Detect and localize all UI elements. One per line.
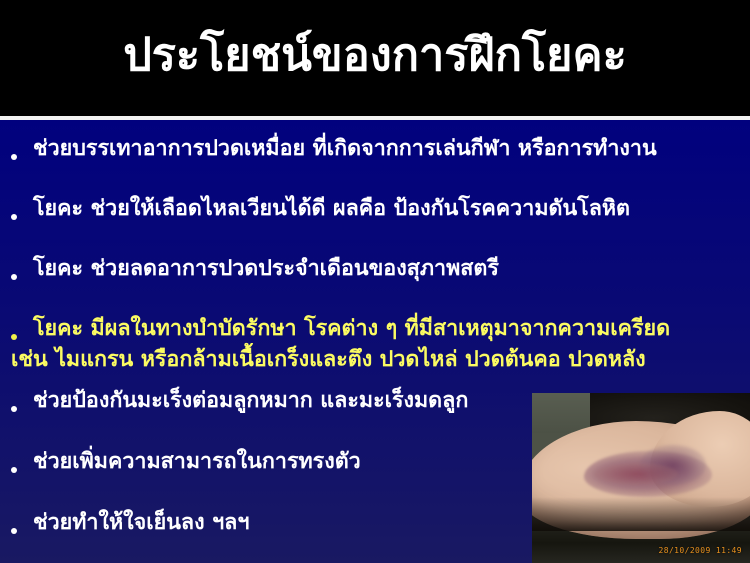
list-item: โยคะ ช่วยให้เลือดไหลเวียนได้ดี ผลคือ ป้อ… (0, 198, 750, 238)
bullet-dot-icon (11, 214, 17, 220)
bullet-dot-icon (11, 528, 17, 534)
bullet-text: โยคะ ช่วยลดอาการปวดประจำเดือนของสุภาพสตร… (33, 258, 750, 280)
bullet-text: ช่วยบรรเทาอาการปวดเหมื่อย ที่เกิดจากการเ… (33, 138, 750, 160)
list-item: โยคะ ช่วยลดอาการปวดประจำเดือนของสุภาพสตร… (0, 258, 750, 298)
bullet-text-continuation: เช่น ไมแกรน หรือกล้ามเนื้อเกร็งและตึง ปว… (11, 349, 750, 371)
slide: ประโยชน์ของการฝึกโยคะ ช่วยบรรเทาอาการปวด… (0, 0, 750, 563)
list-item-highlighted: โยคะ มีผลในทางบำบัดรักษา โรคต่าง ๆ ที่มี… (0, 318, 750, 371)
page-title: ประโยชน์ของการฝึกโยคะ (123, 31, 627, 84)
photo-timestamp: 28/10/2009 11:49 (659, 546, 742, 555)
photo-bruise-streak (594, 463, 678, 485)
photo-shadow (532, 497, 750, 531)
bullet-dot-icon (11, 334, 17, 340)
list-item: ช่วยบรรเทาอาการปวดเหมื่อย ที่เกิดจากการเ… (0, 138, 750, 178)
title-band: ประโยชน์ของการฝึกโยคะ (0, 0, 750, 116)
bullet-text: โยคะ มีผลในทางบำบัดรักษา โรคต่าง ๆ ที่มี… (33, 318, 750, 340)
bullet-dot-icon (11, 274, 17, 280)
bruise-photo: 28/10/2009 11:49 (532, 393, 750, 563)
bullet-dot-icon (11, 154, 17, 160)
bullet-dot-icon (11, 406, 17, 412)
bullet-text: โยคะ ช่วยให้เลือดไหลเวียนได้ดี ผลคือ ป้อ… (33, 198, 750, 220)
bullet-dot-icon (11, 467, 17, 473)
